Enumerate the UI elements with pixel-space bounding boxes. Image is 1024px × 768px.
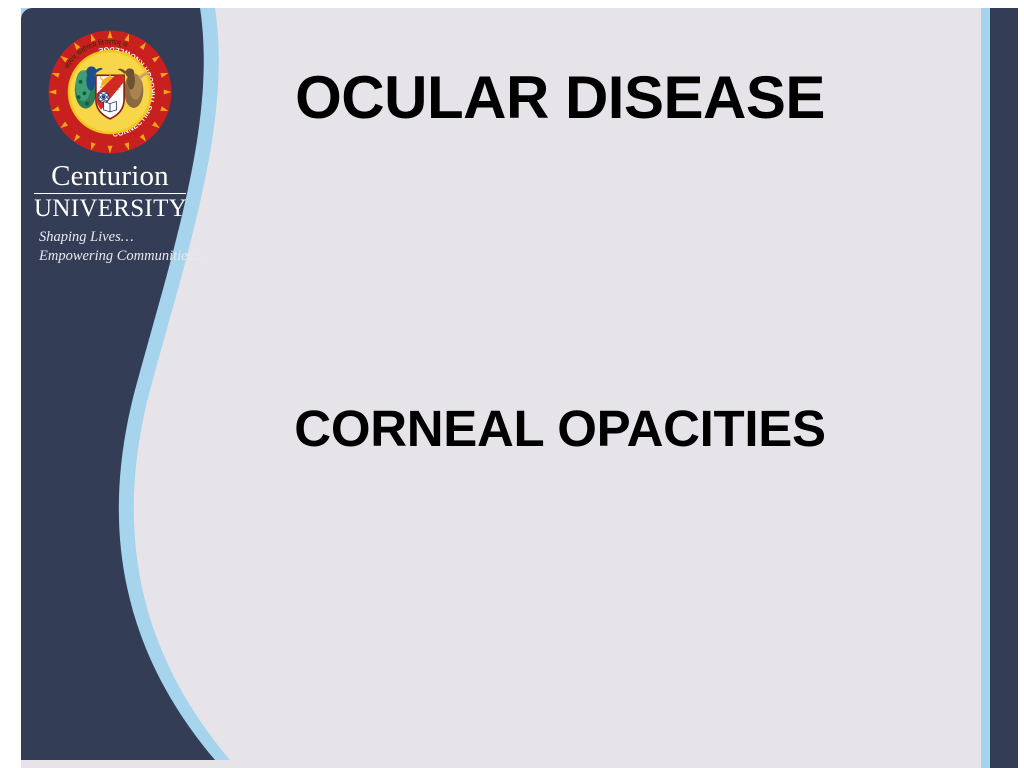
wordmark-name: Centurion: [34, 162, 186, 194]
atom-symbol: [98, 92, 109, 103]
right-navy-band: [990, 8, 1018, 768]
slide-title: OCULAR DISEASE: [200, 66, 920, 129]
right-accent-blue-band: [981, 8, 990, 768]
university-logo-block: CONNECTING THROUGH KNOWLEDGE सत्यम् संयो…: [34, 28, 186, 265]
shield-crest: [96, 73, 124, 119]
wordmark-subname: UNIVERSITY: [34, 196, 186, 221]
slide-subtitle: CORNEAL OPACITIES: [200, 402, 920, 456]
tagline-line-1: Shaping Lives…: [39, 228, 186, 247]
university-tagline: Shaping Lives… Empowering Communities…: [34, 228, 186, 265]
centurion-university-emblem-icon: CONNECTING THROUGH KNOWLEDGE सत्यम् संयो…: [46, 28, 174, 156]
presentation-slide: CONNECTING THROUGH KNOWLEDGE सत्यम् संयो…: [0, 0, 1024, 768]
tagline-line-2: Empowering Communities…: [39, 247, 186, 266]
university-wordmark: Centurion UNIVERSITY: [34, 162, 186, 221]
open-book-symbol: [104, 102, 117, 112]
